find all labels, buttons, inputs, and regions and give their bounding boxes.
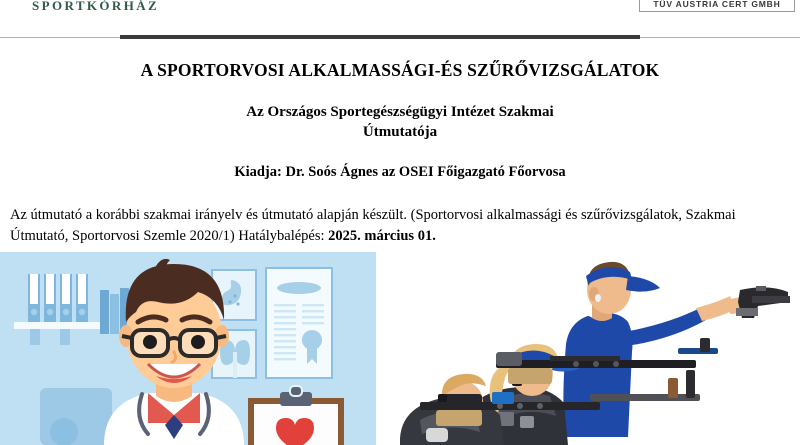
page-title: A SPORTORVOSI ALKALMASSÁGI-ÉS SZŰRŐVIZSG…: [0, 60, 800, 81]
divider-thick-bar: [120, 35, 640, 39]
document-page: SPORTKÓRHÁZ TÜV AUSTRIA CERT GMBH A SPOR…: [0, 0, 800, 445]
subtitle-line-2: Útmutatója: [120, 123, 680, 143]
certification-badge: TÜV AUSTRIA CERT GMBH: [639, 0, 795, 12]
subtitle-line-1: Az Országos Sportegészségügyi Intézet Sz…: [120, 103, 680, 123]
publisher-line: Kiadja: Dr. Soós Ágnes az OSEI Főigazgat…: [0, 164, 800, 181]
organization-logo-text: SPORTKÓRHÁZ: [32, 0, 159, 14]
page-header: SPORTKÓRHÁZ TÜV AUSTRIA CERT GMBH: [0, 0, 800, 30]
header-divider: [0, 34, 800, 42]
image-strip: [0, 252, 800, 445]
effective-date: 2025. március 01.: [328, 228, 436, 244]
document-body: A SPORTORVOSI ALKALMASSÁGI-ÉS SZŰRŐVIZSG…: [0, 42, 800, 247]
intro-paragraph: Az útmutató a korábbi szakmai irányelv é…: [0, 205, 800, 247]
doctor-illustration: [0, 252, 376, 445]
sport-shooters-graphic: [400, 252, 800, 445]
certification-label: TÜV AUSTRIA CERT GMBH: [640, 0, 794, 11]
sport-shooters-photo: [400, 252, 800, 445]
doctor-illustration-graphic: [0, 252, 376, 445]
document-subtitle: Az Országos Sportegészségügyi Intézet Sz…: [0, 103, 800, 142]
